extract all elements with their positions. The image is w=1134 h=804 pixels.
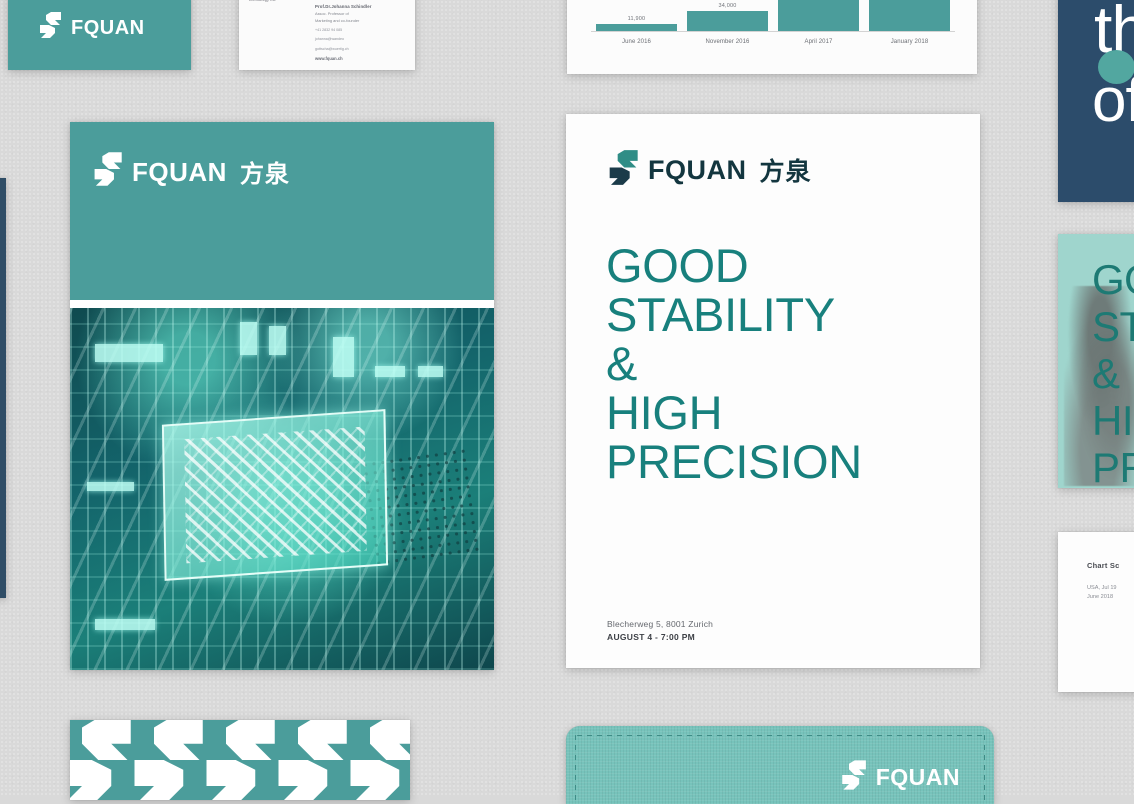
fquan-logo-mark-icon xyxy=(607,150,639,190)
chart-bar xyxy=(596,24,676,31)
chart-tick-label: April 2017 xyxy=(778,39,858,45)
wordmark: FQUAN xyxy=(648,157,747,184)
teal-business-card: FQUAN xyxy=(8,0,191,70)
chart-bar-group xyxy=(869,0,949,31)
navy-poster-line-bottom: of xyxy=(1092,70,1134,132)
wordmark-cjk: 方泉 xyxy=(760,152,812,188)
headline-line: & xyxy=(606,340,958,389)
chart-bar xyxy=(778,0,858,31)
fquan-logo-mark-icon xyxy=(200,720,278,800)
bar-chart: 11,90034,000 June 2016November 2016April… xyxy=(591,0,955,52)
logo-lockup: FQUAN xyxy=(840,760,960,795)
contact-website: www.fquan.ch xyxy=(315,56,410,61)
background-panel-edge xyxy=(0,178,6,598)
event-address: Blecherweg 5, 8001 Zurich xyxy=(607,619,713,629)
chart-sheet: 11,90034,000 June 2016November 2016April… xyxy=(567,0,977,74)
stitch-left xyxy=(575,735,576,804)
pcb-highlight xyxy=(418,366,443,377)
pcb-highlight xyxy=(269,326,286,355)
chart-bar xyxy=(869,0,949,31)
fquan-logo-mark-icon xyxy=(272,720,350,800)
contact-line1: +41 2832 94 085 xyxy=(315,28,410,34)
contact-name: Prof.Dr.Johanna Schindler xyxy=(315,4,410,9)
fquan-logo-mark-icon xyxy=(92,152,123,191)
headline-line: PR xyxy=(1092,444,1134,488)
chart-tick-label: January 2018 xyxy=(869,39,949,45)
chart-value-label: 11,900 xyxy=(628,16,646,22)
logo-lockup: FQUAN 方泉 xyxy=(92,152,290,191)
report-sub-line1: USA, Jul 19 xyxy=(1087,584,1117,593)
chart-bar-group: 34,000 xyxy=(687,0,767,31)
brochure-cover: FQUAN 方泉 xyxy=(70,122,494,670)
wordmark-cjk: 方泉 xyxy=(240,154,290,189)
card-details: Prof.Dr.Johanna Schindler Assoc. Profess… xyxy=(315,4,410,61)
headline-line: PRECISION xyxy=(606,438,958,487)
headline-line: GOOD xyxy=(606,242,958,291)
navy-poster: th of xyxy=(1058,0,1134,202)
headline-line: STABILITY xyxy=(606,291,958,340)
fquan-logo-mark-icon xyxy=(128,720,206,800)
pcb-highlight xyxy=(87,482,134,491)
chart-report-sheet: Chart Sc USA, Jul 19 June 2018 xyxy=(1058,532,1134,692)
pcb-highlight xyxy=(375,366,405,377)
pcb-highlight xyxy=(333,337,354,377)
chart-plot-area: 11,90034,000 xyxy=(591,0,955,32)
pcb-highlight xyxy=(95,619,154,630)
fabric-folder: FQUAN xyxy=(566,726,994,804)
report-sub-line2: June 2018 xyxy=(1087,593,1117,602)
headline-line: GO xyxy=(1092,256,1134,303)
chart-tick-label: June 2016 xyxy=(596,39,676,45)
chart-value-label: 34,000 xyxy=(718,3,736,9)
headline-line: HIGH xyxy=(606,389,958,438)
contact-role-line1: Assoc. Professor of xyxy=(315,11,410,17)
event-date: AUGUST 4 - 7:00 PM xyxy=(607,632,713,642)
contact-line3: gottscha@wuertig.ch xyxy=(315,47,410,53)
report-title: Chart Sc xyxy=(1087,561,1119,570)
wordmark: FQUAN xyxy=(71,18,145,38)
fquan-logo-mark-icon xyxy=(344,720,410,800)
fquan-logo-mark-icon xyxy=(70,720,134,800)
chart-bar xyxy=(687,11,767,31)
headline-line: ST xyxy=(1092,303,1134,350)
wordmark: FQUAN xyxy=(132,159,227,185)
poster-footer: Blecherweg 5, 8001 Zurich AUGUST 4 - 7:0… xyxy=(607,619,713,642)
fquan-logo-mark-icon xyxy=(840,760,867,795)
poster-headline: GOODSTABILITY&HIGHPRECISION xyxy=(606,242,958,486)
pcb-highlight xyxy=(240,322,257,355)
brochure-header: FQUAN 方泉 xyxy=(70,122,494,300)
mint-poster-headline: GOST&HIPR xyxy=(1092,256,1134,488)
wordmark: FQUAN xyxy=(876,766,960,789)
report-subtitle: USA, Jul 19 June 2018 xyxy=(1087,584,1117,602)
circuit-board-photo xyxy=(70,308,494,670)
card-left-label: technology ltd. xyxy=(249,0,276,2)
chart-bar-group: 11,900 xyxy=(596,0,676,31)
pattern-card xyxy=(70,720,410,800)
stitch-top xyxy=(577,735,983,736)
contact-role-line2: Marketing and co-founder xyxy=(315,18,410,24)
fquan-logo-mark-icon xyxy=(38,12,62,43)
pattern-motif-row xyxy=(70,720,410,800)
contact-line2: johanna@wandeo xyxy=(315,37,410,43)
chart-bar-group xyxy=(778,0,858,31)
pcb-highlight xyxy=(95,344,163,362)
logo-lockup: FQUAN 方泉 xyxy=(607,150,812,190)
stitch-right xyxy=(984,735,985,804)
pcb-chip xyxy=(162,409,389,581)
chart-x-axis: June 2016November 2016April 2017January … xyxy=(591,32,955,52)
mint-poster: GOST&HIPR xyxy=(1058,234,1134,488)
logo-lockup: FQUAN xyxy=(38,12,191,43)
headline-line: HI xyxy=(1092,397,1134,444)
chart-tick-label: November 2016 xyxy=(687,39,767,45)
event-poster: FQUAN 方泉 GOODSTABILITY&HIGHPRECISION Ble… xyxy=(566,114,980,668)
headline-line: & xyxy=(1092,350,1134,397)
white-business-card: technology ltd. Prof.Dr.Johanna Schindle… xyxy=(239,0,415,70)
